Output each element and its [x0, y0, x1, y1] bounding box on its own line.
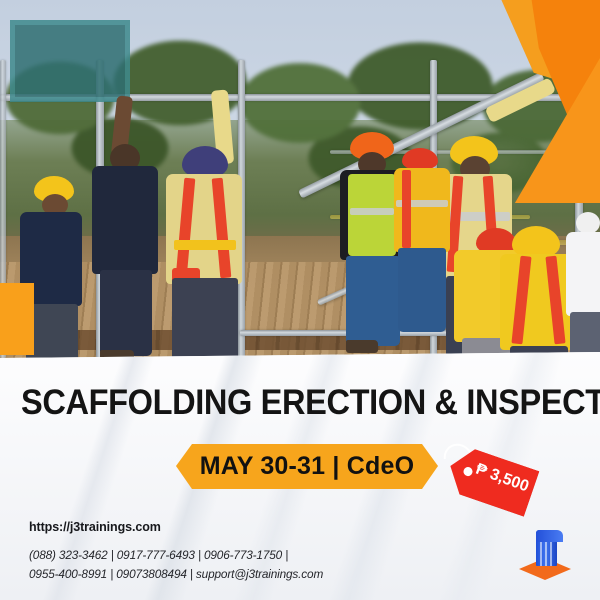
worker-torso [566, 232, 600, 316]
worker-legs [100, 270, 152, 356]
red-cap [402, 148, 438, 170]
logo-flute-line [545, 540, 547, 566]
promotional-poster: SCAFFOLDING ERECTION & INSPECTION MAY 30… [0, 0, 600, 600]
reflective-band [350, 208, 394, 215]
training-photo [0, 0, 600, 358]
page-title: SCAFFOLDING ERECTION & INSPECTION [21, 383, 579, 423]
worker-boot [346, 340, 378, 353]
site-signboard [10, 20, 130, 102]
logo-flute-line [540, 540, 542, 566]
contact-details: (088) 323-3462 | 0917-777-6493 | 0906-77… [29, 546, 323, 584]
worker-legs [570, 312, 600, 358]
logo-j-hook [536, 530, 563, 542]
worker-torso [92, 166, 158, 274]
decor-orange-block-left [0, 283, 34, 355]
j3-trainings-logo [519, 528, 571, 584]
worker-legs [398, 248, 446, 332]
hi-vis-vest [348, 174, 396, 256]
worker-legs [172, 278, 238, 358]
contact-line-1: (088) 323-3462 | 0917-777-6493 | 0906-77… [29, 546, 323, 565]
safety-harness-strap [402, 170, 411, 248]
worker-head [576, 212, 600, 234]
date-location-label: MAY 30-31 | CdeO [176, 444, 438, 489]
worker-legs [346, 256, 400, 346]
logo-flute-line [550, 540, 552, 566]
harness-waist-belt [174, 240, 236, 250]
date-location-banner: MAY 30-31 | CdeO [176, 444, 438, 489]
contact-line-2: 0955-400-8991 | 09073808494 | support@j3… [29, 565, 323, 584]
website-url[interactable]: https://j3trainings.com [29, 520, 161, 534]
